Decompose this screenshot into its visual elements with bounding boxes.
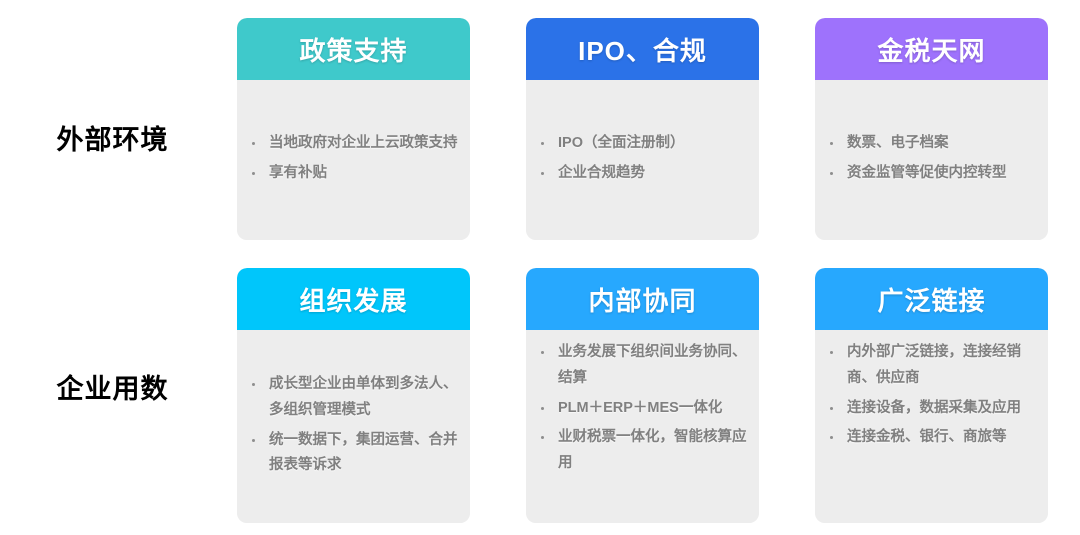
list-item: IPO（全面注册制）: [536, 131, 747, 157]
bullet-list-organization-development: 成长型企业由单体到多法人、多组织管理模式 统一数据下，集团运营、合并报表等诉求: [247, 372, 458, 479]
bullet-list-internal-collaboration: 业务发展下组织间业务协同、结算 PLM＋ERP＋MES一体化 业财税票一体化，智…: [536, 340, 747, 477]
list-item: 业务发展下组织间业务协同、结算: [536, 340, 747, 392]
list-item: 业财税票一体化，智能核算应用: [536, 425, 747, 477]
card-header-policy-support: 政策支持: [237, 18, 470, 80]
card-header-golden-tax-network: 金税天网: [815, 18, 1048, 80]
card-body-organization-development: 成长型企业由单体到多法人、多组织管理模式 统一数据下，集团运营、合并报表等诉求: [237, 330, 470, 523]
card-body-internal-collaboration: 业务发展下组织间业务协同、结算 PLM＋ERP＋MES一体化 业财税票一体化，智…: [526, 330, 759, 523]
card-organization-development[interactable]: 组织发展 成长型企业由单体到多法人、多组织管理模式 统一数据下，集团运营、合并报…: [237, 268, 470, 523]
list-item: 内外部广泛链接，连接经销商、供应商: [825, 340, 1036, 392]
list-item: PLM＋ERP＋MES一体化: [536, 396, 747, 422]
card-row-external-environment: 政策支持 当地政府对企业上云政策支持 享有补贴 IPO、合规 IPO（全面注册制…: [237, 18, 1049, 240]
list-item: 连接金税、银行、商旅等: [825, 425, 1036, 451]
card-policy-support[interactable]: 政策支持 当地政府对企业上云政策支持 享有补贴: [237, 18, 470, 240]
card-header-organization-development: 组织发展: [237, 268, 470, 330]
bullet-list-ipo-compliance: IPO（全面注册制） 企业合规趋势: [536, 131, 747, 187]
slide-canvas: 外部环境 企业用数 政策支持 当地政府对企业上云政策支持 享有补贴 IPO、合规…: [0, 0, 1080, 535]
list-item: 成长型企业由单体到多法人、多组织管理模式: [247, 372, 458, 424]
row-label-external-environment: 外部环境: [0, 118, 225, 157]
card-internal-collaboration[interactable]: 内部协同 业务发展下组织间业务协同、结算 PLM＋ERP＋MES一体化 业财税票…: [526, 268, 759, 523]
card-golden-tax-network[interactable]: 金税天网 数票、电子档案 资金监管等促使内控转型: [815, 18, 1048, 240]
list-item: 连接设备，数据采集及应用: [825, 396, 1036, 422]
card-body-broad-connection: 内外部广泛链接，连接经销商、供应商 连接设备，数据采集及应用 连接金税、银行、商…: [815, 330, 1048, 523]
list-item: 数票、电子档案: [825, 131, 1036, 157]
list-item: 资金监管等促使内控转型: [825, 161, 1036, 187]
row-label-enterprise-data-usage: 企业用数: [0, 367, 225, 406]
bullet-list-golden-tax-network: 数票、电子档案 资金监管等促使内控转型: [825, 131, 1036, 187]
card-header-ipo-compliance: IPO、合规: [526, 18, 759, 80]
card-broad-connection[interactable]: 广泛链接 内外部广泛链接，连接经销商、供应商 连接设备，数据采集及应用 连接金税…: [815, 268, 1048, 523]
card-body-golden-tax-network: 数票、电子档案 资金监管等促使内控转型: [815, 80, 1048, 240]
list-item: 统一数据下，集团运营、合并报表等诉求: [247, 428, 458, 480]
card-body-policy-support: 当地政府对企业上云政策支持 享有补贴: [237, 80, 470, 240]
list-item: 当地政府对企业上云政策支持: [247, 131, 458, 157]
card-ipo-compliance[interactable]: IPO、合规 IPO（全面注册制） 企业合规趋势: [526, 18, 759, 240]
card-grid: 政策支持 当地政府对企业上云政策支持 享有补贴 IPO、合规 IPO（全面注册制…: [237, 18, 1049, 523]
bullet-list-policy-support: 当地政府对企业上云政策支持 享有补贴: [247, 131, 458, 187]
list-item: 企业合规趋势: [536, 161, 747, 187]
card-body-ipo-compliance: IPO（全面注册制） 企业合规趋势: [526, 80, 759, 240]
list-item: 享有补贴: [247, 161, 458, 187]
card-row-enterprise-data-usage: 组织发展 成长型企业由单体到多法人、多组织管理模式 统一数据下，集团运营、合并报…: [237, 268, 1049, 523]
card-header-broad-connection: 广泛链接: [815, 268, 1048, 330]
card-header-internal-collaboration: 内部协同: [526, 268, 759, 330]
bullet-list-broad-connection: 内外部广泛链接，连接经销商、供应商 连接设备，数据采集及应用 连接金税、银行、商…: [825, 340, 1036, 451]
